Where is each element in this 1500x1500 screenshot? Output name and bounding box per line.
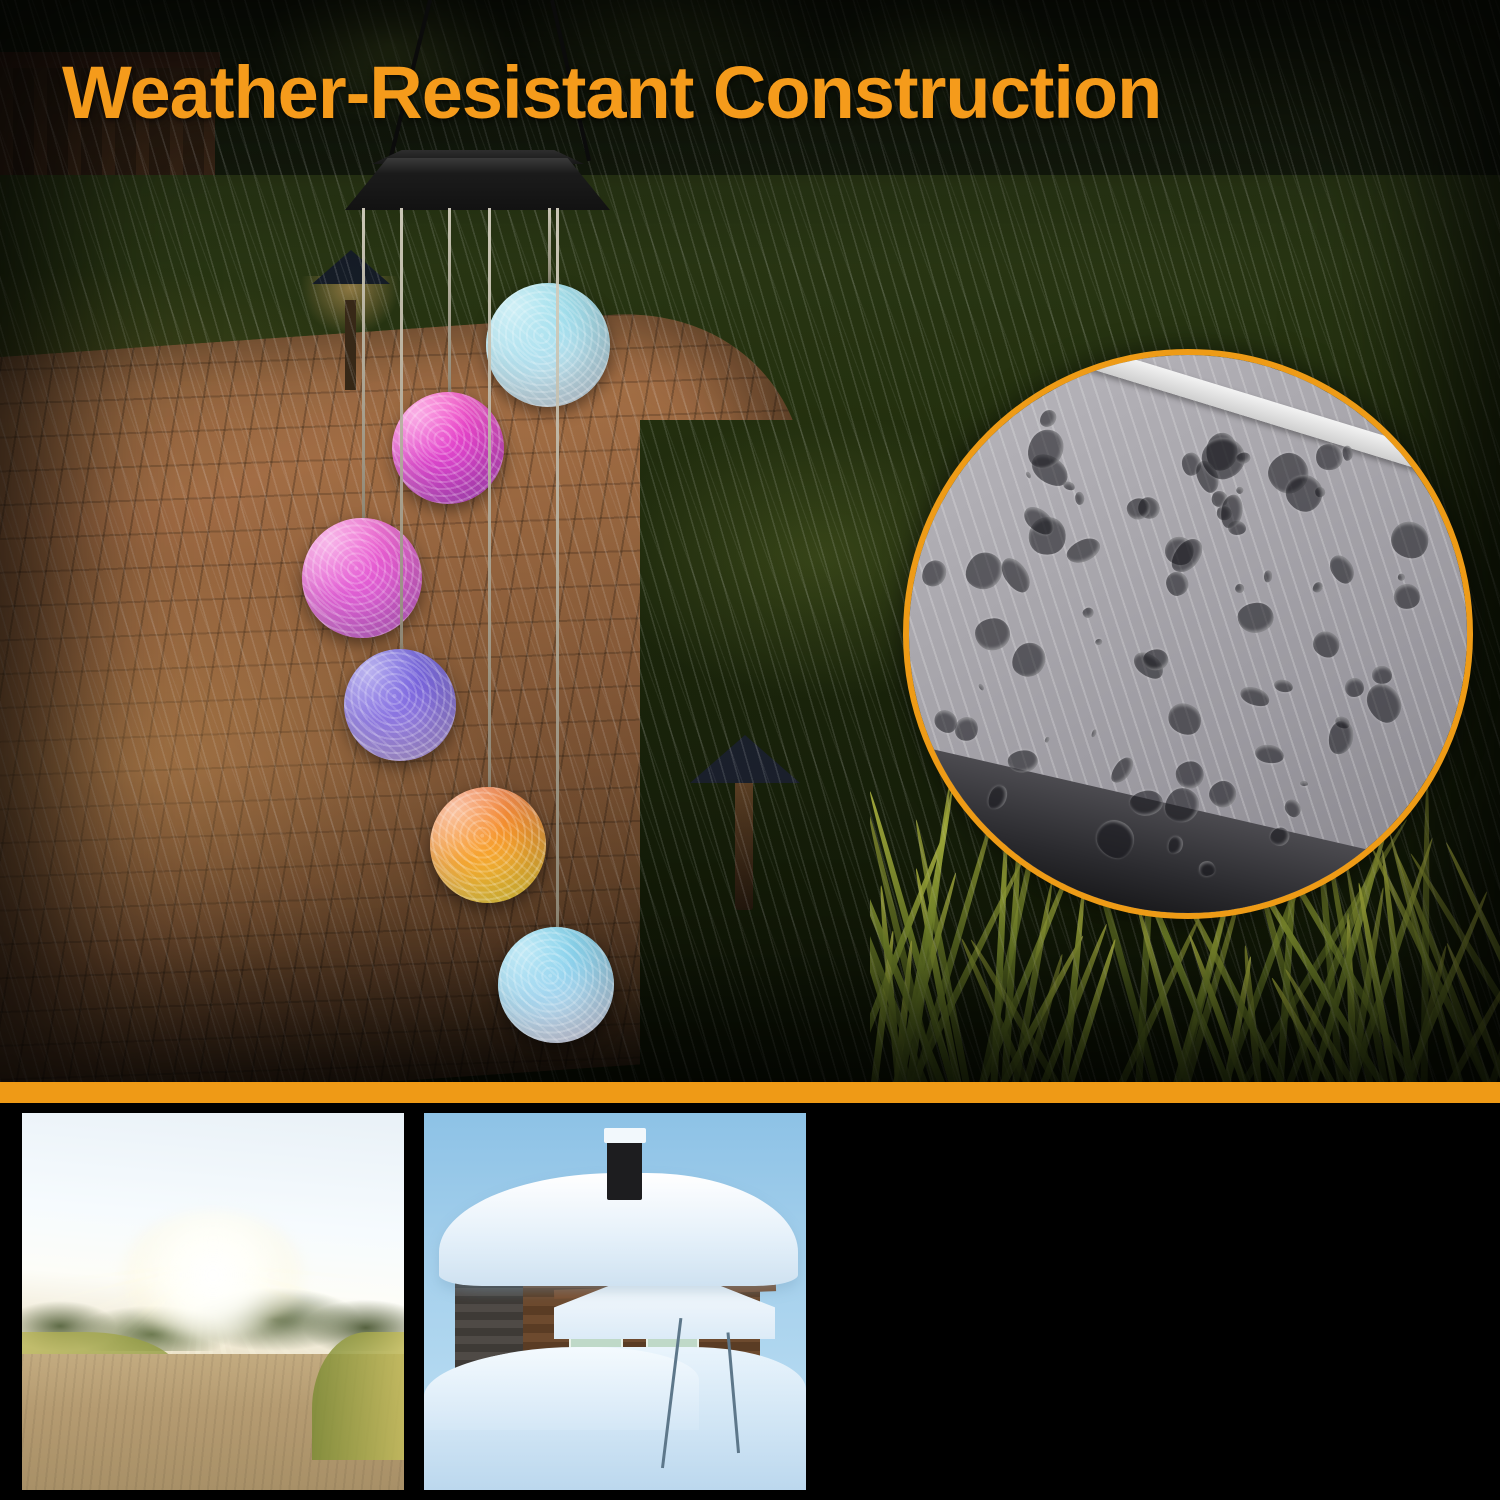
thumbnail-sunny-road: [22, 1113, 404, 1490]
waterproof-closeup-inset: [903, 349, 1473, 919]
ball-aqua-bottom: [498, 927, 614, 1043]
chime-wire-6: [556, 208, 559, 927]
sun-flare: [121, 1211, 304, 1339]
bottom-section: IP65 Waterproof: [0, 1103, 1500, 1500]
water-droplet: [1176, 760, 1204, 788]
chime-wire-1: [548, 208, 551, 283]
page-title: Weather-Resistant Construction: [62, 50, 1161, 135]
chime-wire-5: [488, 208, 491, 787]
ball-blue-violet: [344, 649, 456, 761]
orange-divider: [0, 1082, 1500, 1103]
water-droplet: [1300, 780, 1308, 786]
wind-chime-product: [300, 0, 720, 1083]
thumbnail-snow-cabin: [424, 1113, 806, 1490]
chimney-snow-cap: [604, 1128, 646, 1143]
ball-pink: [302, 518, 422, 638]
chime-wire-3: [362, 208, 365, 518]
solar-panel: [345, 158, 610, 210]
ball-yellow: [430, 787, 546, 903]
chime-wire-2: [448, 208, 451, 392]
product-feature-infographic: Weather-Resistant Construction: [0, 0, 1500, 1500]
chime-wire-4: [400, 208, 403, 649]
ball-cyan-top: [486, 283, 610, 407]
